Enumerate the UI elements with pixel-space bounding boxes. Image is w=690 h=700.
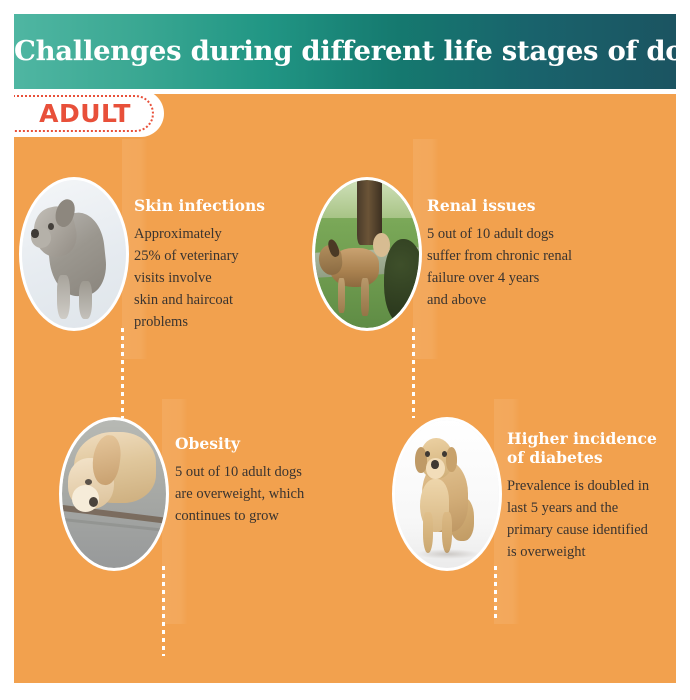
obesity-photo (62, 420, 166, 568)
body-line: 25% of veterinary (134, 245, 284, 267)
skin-infections-title: Skin infections (134, 196, 314, 215)
body-line: Approximately (134, 223, 284, 245)
body-line: skin and haircoat (134, 289, 284, 311)
body-line: 5 out of 10 adult dogs (175, 461, 390, 483)
body-line: is overweight (507, 541, 676, 563)
body-line: are overweight, which (175, 483, 390, 505)
body-line: problems (134, 311, 284, 333)
body-line: 5 out of 10 adult dogs (427, 223, 637, 245)
title-line: of diabetes (507, 448, 676, 467)
life-stage-badge[interactable]: ADULT (14, 90, 164, 137)
title-line: Higher incidence (507, 429, 676, 448)
body-line: failure over 4 years (427, 267, 637, 289)
renal-issues-photo (315, 180, 419, 328)
connector-dots-diabetes-bottom (494, 566, 497, 622)
infographic-canvas: Challenges during different life stages … (14, 14, 676, 683)
diabetes-title: Higher incidence of diabetes (507, 429, 676, 467)
body-line: Prevalence is doubled in (507, 475, 676, 497)
diabetes-photo (395, 420, 499, 568)
body-line: and above (427, 289, 637, 311)
connector-dots-renal-to-diabetes (412, 328, 415, 418)
skin-infections-photo (22, 180, 126, 328)
body-line: last 5 years and the (507, 497, 676, 519)
badge-label: ADULT (14, 90, 164, 137)
obesity-title: Obesity (175, 434, 375, 453)
connector-dots-obesity-bottom (162, 566, 165, 656)
obesity-body: 5 out of 10 adult dogs are overweight, w… (175, 461, 390, 527)
skin-infections-body: Approximately 25% of veterinary visits i… (134, 223, 284, 333)
diabetes-body: Prevalence is doubled in last 5 years an… (507, 475, 676, 563)
body-line: primary cause identified (507, 519, 676, 541)
body-line: visits involve (134, 267, 284, 289)
page-title: Challenges during different life stages … (14, 14, 676, 89)
renal-issues-body: 5 out of 10 adult dogs suffer from chron… (427, 223, 637, 311)
renal-issues-title: Renal issues (427, 196, 627, 215)
body-line: continues to grow (175, 505, 390, 527)
body-line: suffer from chronic renal (427, 245, 637, 267)
connector-dots-skin-to-obesity (121, 328, 124, 418)
